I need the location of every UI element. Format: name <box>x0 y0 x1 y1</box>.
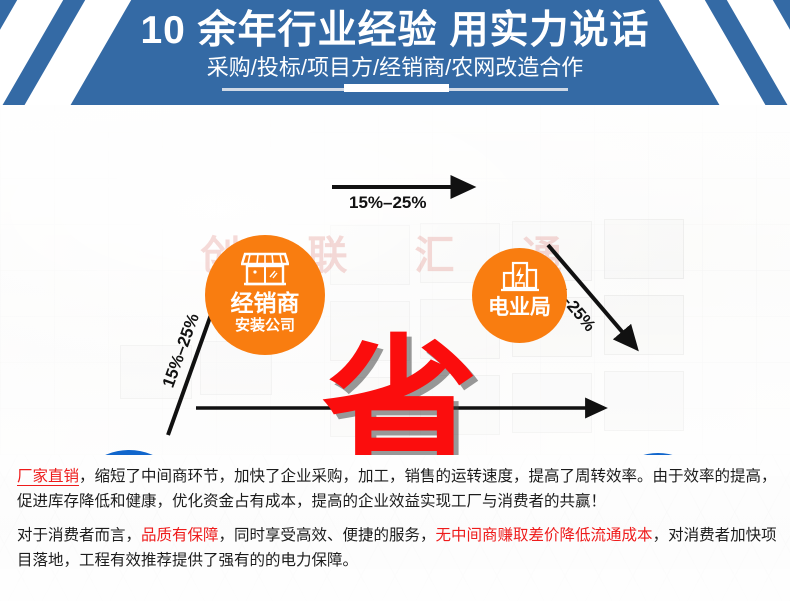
node-power-bureau[interactable]: 电业局 <box>472 248 567 343</box>
power-building-icon <box>500 261 540 293</box>
footer-paragraph-2: 对于消费者而言，品质有保障，同时享受高效、便捷的服务，无中间商赚取差价降低流通成… <box>17 523 777 573</box>
footer-highlight-no-middleman: 无中间商赚取差价降低流通成本 <box>436 527 653 544</box>
header-banner: 10 余年行业经验 用实力说话 采购/投标/项目方/经销商/农网改造合作 <box>0 0 790 105</box>
footer-paragraph-2-part1: 对于消费者而言， <box>17 527 141 544</box>
node-dealer-label: 经销商 <box>205 291 325 315</box>
node-power-bureau-label: 电业局 <box>472 297 567 319</box>
node-dealer[interactable]: 经销商 安装公司 <box>205 235 325 355</box>
footer-paragraph-2-part2: ，同时享受高效、便捷的服务， <box>219 527 436 544</box>
arrow-label-dealer-to-bureau: 15%–25% <box>349 193 427 213</box>
banner-title: 10 余年行业经验 用实力说话 <box>0 0 790 53</box>
footer-highlight-quality: 品质有保障 <box>141 527 219 544</box>
infographic-page: 10 余年行业经验 用实力说话 采购/投标/项目方/经销商/农网改造合作 创 联… <box>0 0 790 601</box>
banner-divider-accent <box>344 84 449 92</box>
footer-highlight-direct-sales: 厂家直销 <box>17 468 79 486</box>
footer-paragraph-1: 厂家直销，缩短了中间商环节，加快了企业采购，加工，销售的运转速度，提高了周转效率… <box>17 464 777 514</box>
node-dealer-sublabel: 安装公司 <box>205 318 325 334</box>
footer-description: 厂家直销，缩短了中间商环节，加快了企业采购，加工，销售的运转速度，提高了周转效率… <box>0 455 790 601</box>
flow-diagram: 创 联 汇 通 15%–25% 15%–25% 15%–25% <box>0 105 790 455</box>
banner-subtitle: 采购/投标/项目方/经销商/农网改造合作 <box>0 53 790 81</box>
storefront-icon <box>241 251 289 287</box>
footer-paragraph-1-rest: ，缩短了中间商环节，加快了企业采购，加工，销售的运转速度，提高了周转效率。由于效… <box>17 468 777 510</box>
save-character: 省 <box>322 333 478 455</box>
